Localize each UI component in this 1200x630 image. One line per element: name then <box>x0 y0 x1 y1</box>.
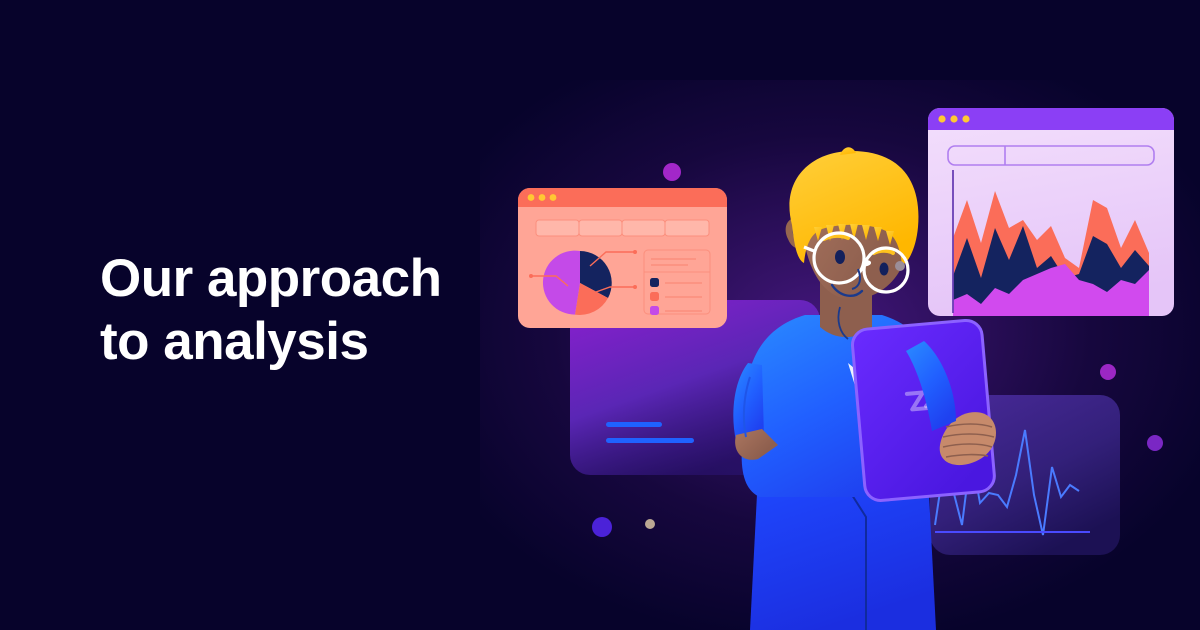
window-dot-1-icon[interactable] <box>528 194 535 201</box>
dot-tan-lower <box>645 519 655 529</box>
character-eye-right <box>880 263 889 276</box>
legend-swatch-3 <box>650 306 659 315</box>
analyst-illustration <box>700 145 1030 630</box>
character-left-arm <box>733 363 764 441</box>
tab-1[interactable] <box>536 220 579 236</box>
tab-3[interactable] <box>622 220 665 236</box>
summary-card-bar-1 <box>606 422 662 427</box>
tab-2[interactable] <box>579 220 622 236</box>
dot-purple-right-low <box>1147 435 1163 451</box>
summary-card-bar-2 <box>606 438 694 443</box>
window-dot-1-icon[interactable] <box>938 115 945 122</box>
pie-chart <box>543 251 612 315</box>
dashboard-window-body <box>518 188 727 328</box>
dot-grey-face <box>895 261 905 271</box>
window-dot-2-icon[interactable] <box>539 194 546 201</box>
legend-swatch-1 <box>650 278 659 287</box>
dot-purple-top <box>663 163 681 181</box>
window-dot-3-icon[interactable] <box>550 194 557 201</box>
legend-swatch-2 <box>650 292 659 301</box>
character-eye-left <box>835 250 845 264</box>
window-dot-2-icon[interactable] <box>950 115 957 122</box>
dot-blue-lower <box>592 517 612 537</box>
dashboard-window-titlebar <box>518 188 727 207</box>
illustration-stage: Our approach to analysis <box>0 0 1200 630</box>
tab-row[interactable] <box>536 220 709 236</box>
page-title: Our approach to analysis <box>100 248 442 373</box>
window-dot-3-icon[interactable] <box>962 115 969 122</box>
dot-purple-right <box>1100 364 1116 380</box>
